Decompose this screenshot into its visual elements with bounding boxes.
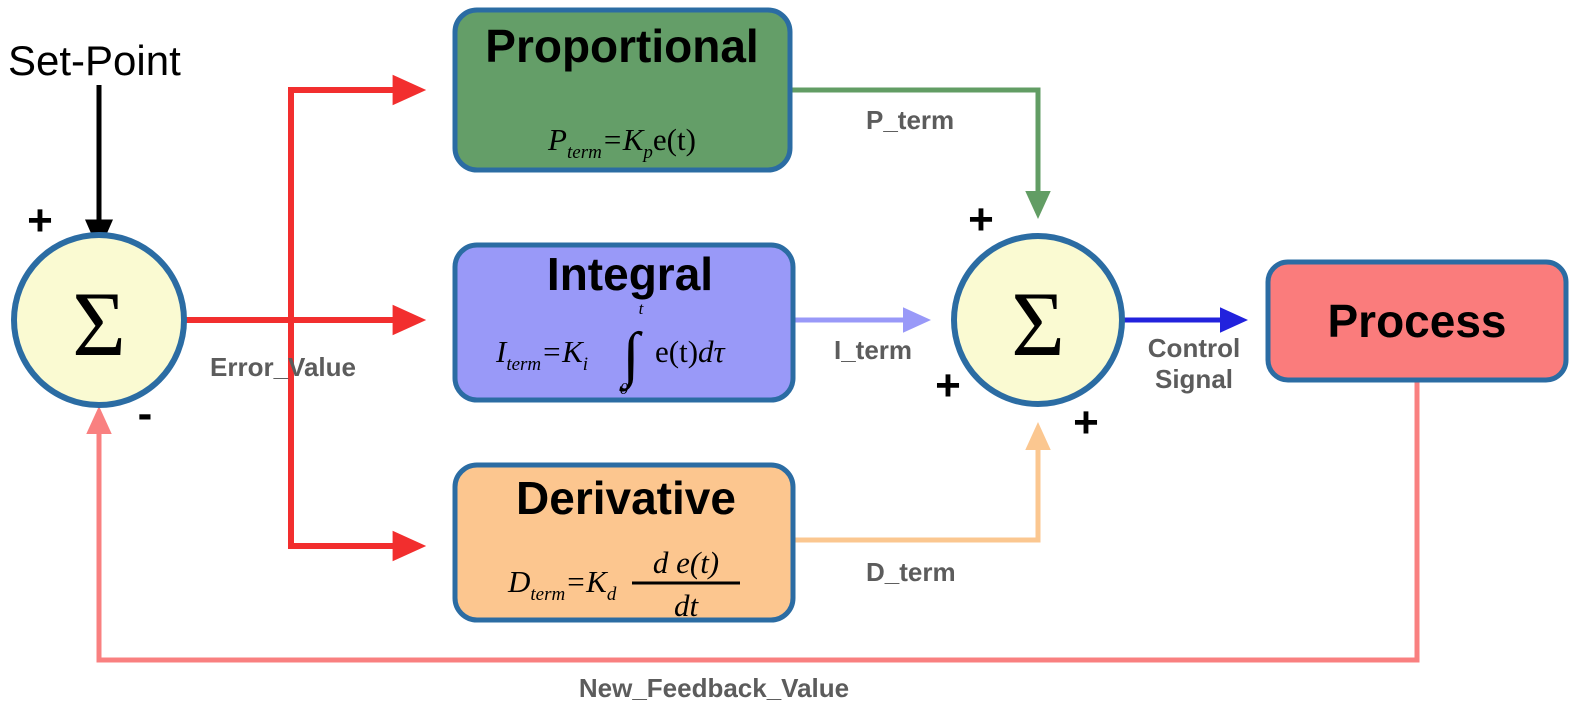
control-signal-label-line1: Control: [1148, 333, 1240, 363]
i-lhs-sub: term: [506, 354, 541, 375]
error-branch-proportional: [291, 90, 395, 320]
i-gain-base: K: [561, 334, 585, 369]
diagram-canvas: Proportional Pterm=Kpe(t) Integral Iterm…: [0, 0, 1569, 704]
derivative-numerator: d e(t): [653, 545, 719, 580]
p-lhs-sub: term: [567, 142, 602, 163]
d-term-path: [793, 448, 1038, 540]
i-gain-sub: i: [583, 354, 588, 375]
d-lhs-sub: term: [530, 584, 565, 605]
error-value-label: Error_Value: [210, 352, 356, 382]
control-sum-sigma: Σ: [1011, 273, 1065, 375]
d-gain-base: K: [585, 564, 609, 599]
process-title: Process: [1327, 295, 1506, 347]
i-term-label: I_term: [834, 335, 912, 365]
derivative-denominator: dt: [674, 588, 700, 623]
setpoint-label: Set-Point: [8, 37, 181, 84]
d-term-label: D_term: [866, 557, 956, 587]
block-proportional[interactable]: Proportional Pterm=Kpe(t): [455, 10, 790, 170]
p-term-label: P_term: [866, 105, 954, 135]
integral-formula-right: e(t)dτ: [655, 334, 727, 369]
d-lhs-base: D: [507, 564, 530, 599]
control-sum-plus-bottom-right: +: [1073, 398, 1099, 447]
integral-lower-limit: 0: [620, 379, 629, 398]
block-derivative[interactable]: Derivative Dterm=Kd d e(t) dt: [455, 465, 793, 623]
i-equals: =: [541, 334, 562, 369]
p-gain-base: K: [622, 122, 646, 157]
error-sum-plus-sign: +: [27, 196, 53, 245]
feedback-value-label: New_Feedback_Value: [579, 673, 849, 703]
d-gain-sub: d: [607, 584, 617, 605]
p-gain-sub: p: [641, 142, 653, 163]
control-sum-plus-top: +: [968, 195, 994, 244]
pid-block-diagram: Proportional Pterm=Kpe(t) Integral Iterm…: [0, 0, 1569, 704]
derivative-title: Derivative: [516, 472, 736, 524]
summing-junction-control[interactable]: Σ + + +: [935, 195, 1122, 447]
control-signal-label-line2: Signal: [1155, 364, 1233, 394]
block-integral[interactable]: Integral Iterm=Ki ∫ t 0 e(t)dτ: [455, 245, 793, 400]
i-body: e(t): [655, 334, 698, 369]
block-process[interactable]: Process: [1268, 262, 1566, 380]
p-body: e(t): [653, 122, 696, 157]
summing-junction-error[interactable]: Σ + -: [14, 196, 184, 438]
error-sum-sigma: Σ: [72, 273, 126, 375]
i-differential: dτ: [698, 334, 727, 369]
p-equals: =: [602, 122, 623, 157]
error-sum-minus-sign: -: [138, 389, 153, 438]
proportional-title: Proportional: [485, 20, 758, 72]
integral-title: Integral: [547, 248, 713, 300]
p-lhs-base: P: [547, 122, 567, 157]
control-sum-plus-bottom-left: +: [935, 361, 961, 410]
d-equals: =: [565, 564, 586, 599]
